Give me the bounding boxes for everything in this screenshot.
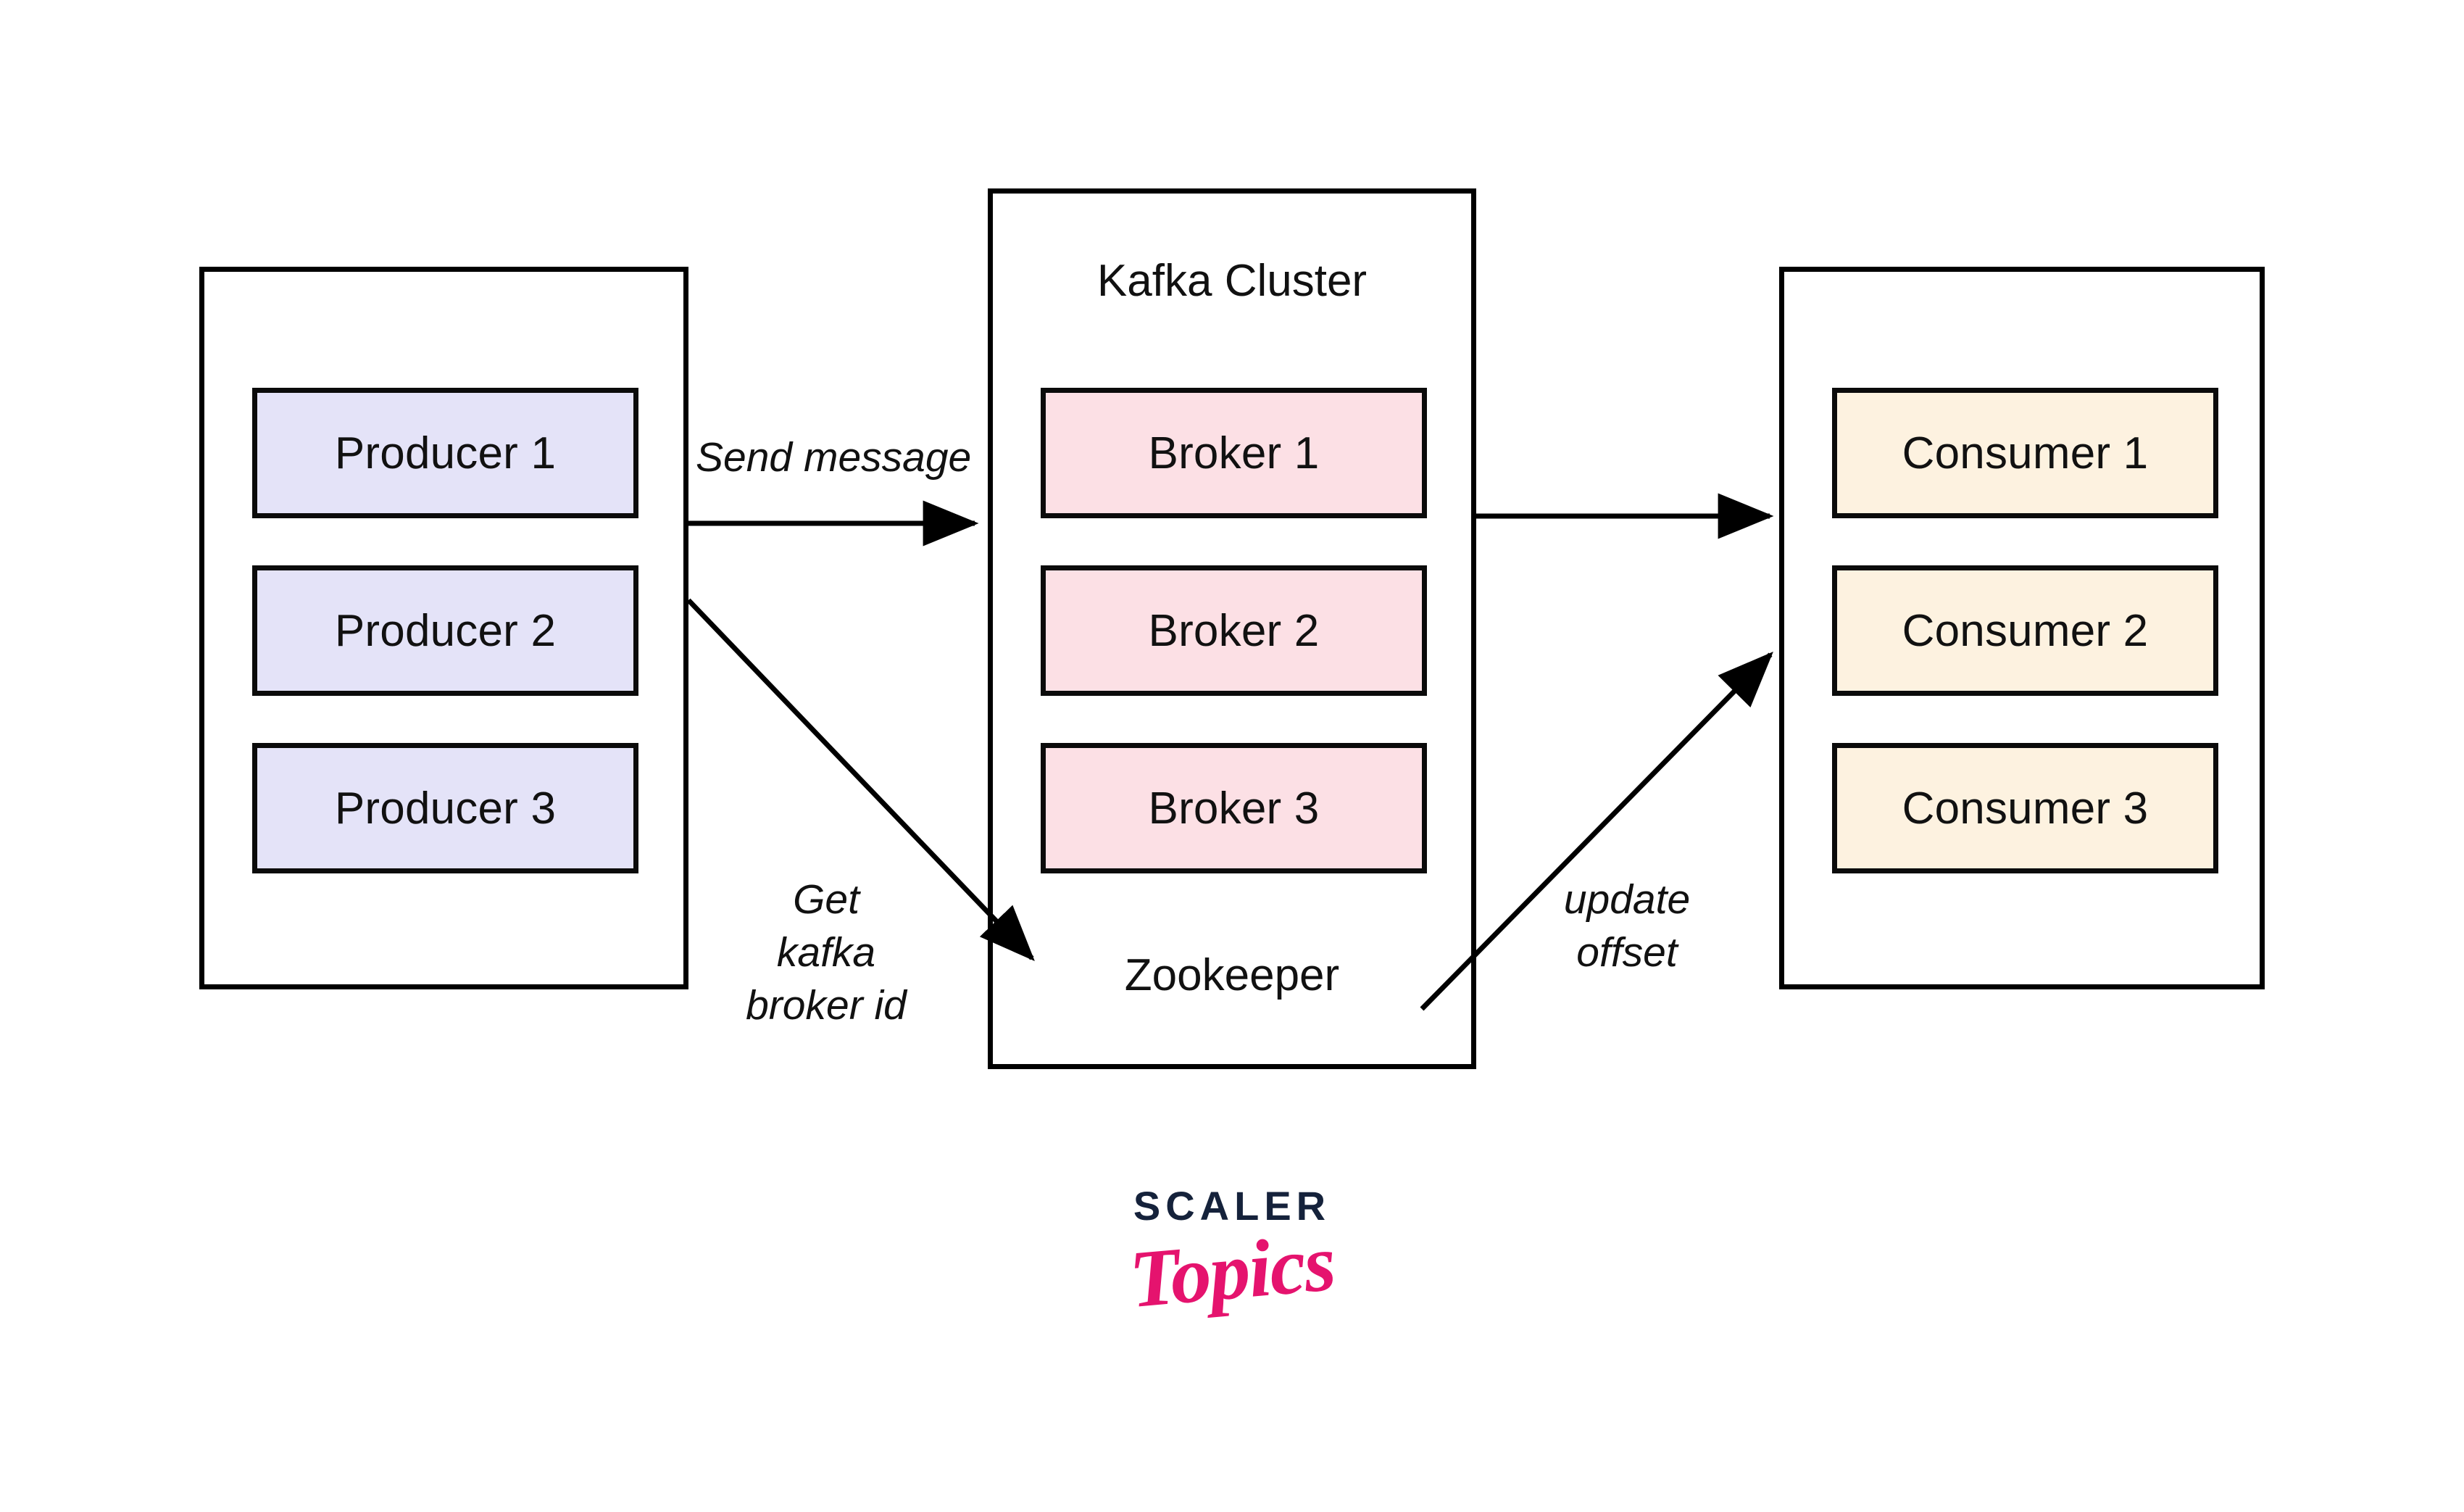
broker-node-2[interactable]: Broker 2 <box>1041 565 1427 696</box>
edge-label-send-message: Send message <box>696 431 971 484</box>
consumer-node-2[interactable]: Consumer 2 <box>1832 565 2218 696</box>
diagram-canvas: Producer 1 Producer 2 Producer 3 Kafka C… <box>0 0 2464 1512</box>
kafka-cluster-title: Kafka Cluster <box>988 255 1476 307</box>
scaler-topics-logo: SCALER Topics <box>0 1186 2464 1312</box>
consumer-node-3[interactable]: Consumer 3 <box>1832 743 2218 873</box>
broker-node-3-label: Broker 3 <box>1149 783 1320 834</box>
producer-node-1-label: Producer 1 <box>335 428 556 479</box>
consumer-node-1-label: Consumer 1 <box>1902 428 2149 479</box>
broker-node-3[interactable]: Broker 3 <box>1041 743 1427 873</box>
consumer-node-2-label: Consumer 2 <box>1902 605 2149 657</box>
broker-node-2-label: Broker 2 <box>1149 605 1320 657</box>
producer-node-3[interactable]: Producer 3 <box>252 743 638 873</box>
edge-label-get-kafka-broker-id: Get kafka broker id <box>725 873 928 1032</box>
edge-label-update-offset: update offset <box>1522 873 1732 979</box>
producer-node-2-label: Producer 2 <box>335 605 556 657</box>
broker-node-1[interactable]: Broker 1 <box>1041 388 1427 518</box>
consumer-node-3-label: Consumer 3 <box>1902 783 2149 834</box>
consumer-node-1[interactable]: Consumer 1 <box>1832 388 2218 518</box>
logo-secondary-text: Topics <box>1 1123 2463 1419</box>
producer-node-3-label: Producer 3 <box>335 783 556 834</box>
producer-node-2[interactable]: Producer 2 <box>252 565 638 696</box>
producer-node-1[interactable]: Producer 1 <box>252 388 638 518</box>
zookeeper-label: Zookeeper <box>988 950 1476 1001</box>
broker-node-1-label: Broker 1 <box>1149 428 1320 479</box>
